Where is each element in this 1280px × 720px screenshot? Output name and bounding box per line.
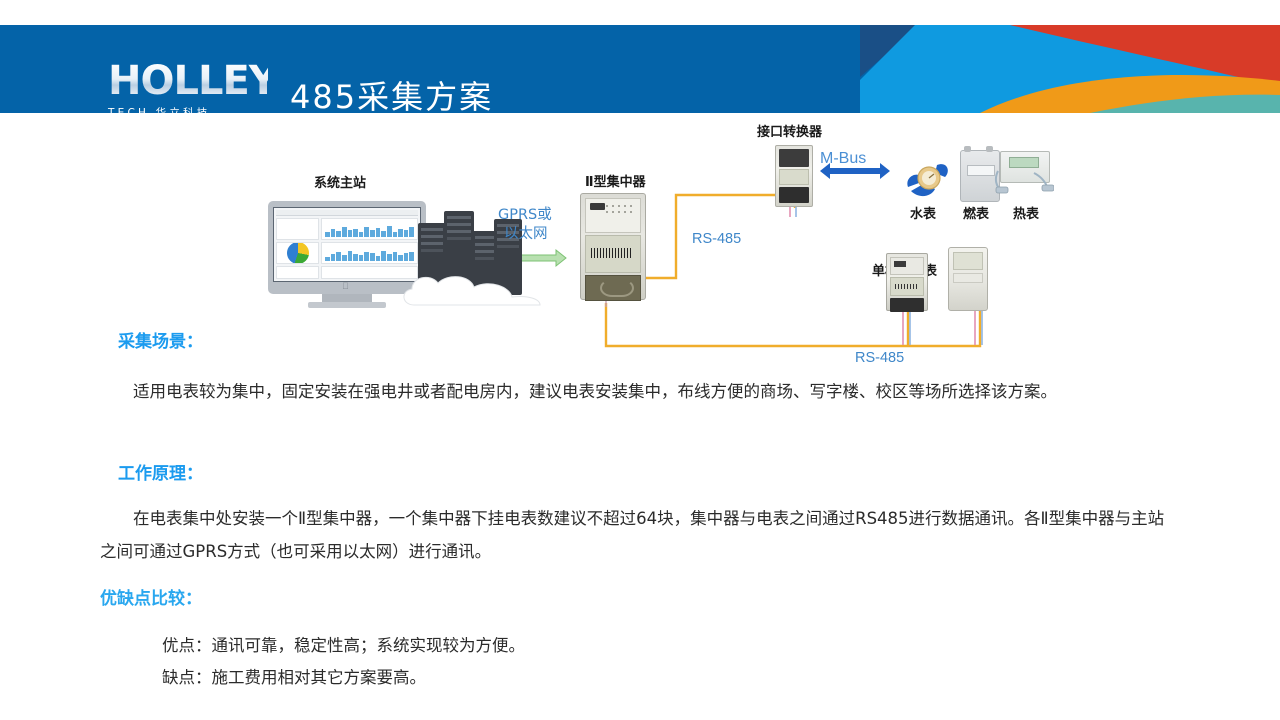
- header-swoosh-decoration: [860, 25, 1280, 113]
- concentrator-device-icon: [580, 193, 646, 300]
- page-title: 485采集方案: [290, 72, 493, 113]
- interface-converter-device-icon: [775, 145, 813, 207]
- logo-wordmark: HOLLEY: [108, 61, 268, 101]
- label-mbus: M-Bus: [820, 150, 866, 168]
- label-interface-converter: 接口转换器: [757, 121, 822, 140]
- section-body-scenario: 适用电表较为集中，固定安装在强电井或者配电房内，建议电表安装集中，布线方便的商场…: [100, 375, 1180, 408]
- section-heading-principle: 工作原理：: [118, 459, 203, 484]
- label-master-station: 系统主站: [314, 172, 366, 191]
- holley-logo: HOLLEY TECH 华立科技: [108, 61, 268, 113]
- single-phase-meter-icon-b: [948, 247, 988, 311]
- heat-meter-cable-icon: [994, 169, 1054, 195]
- section-body-principle: 在电表集中处安装一个Ⅱ型集中器，一个集中器下挂电表数建议不超过64块，集中器与电…: [100, 502, 1180, 568]
- label-water-meter: 水表: [910, 203, 936, 222]
- bullet-advantage: 优点：通讯可靠，稳定性高；系统实现较为方便。: [162, 632, 525, 656]
- logo-subtext: TECH 华立科技: [108, 105, 268, 113]
- label-gprs-line2: 以太网: [504, 225, 548, 244]
- apple-logo-icon: : [342, 282, 350, 291]
- section-heading-proscons: 优缺点比较：: [100, 584, 202, 609]
- label-rs485-bottom: RS-485: [855, 350, 904, 366]
- label-heat-meter: 热表: [1013, 203, 1039, 222]
- cloud-icon: [400, 271, 550, 307]
- bullet-disadvantage: 缺点：施工费用相对其它方案要高。: [162, 664, 426, 688]
- single-phase-meter-icon-a: [886, 253, 928, 311]
- header-banner: HOLLEY TECH 华立科技 485采集方案: [0, 25, 1280, 113]
- label-rs485-top: RS-485: [692, 231, 741, 247]
- section-heading-scenario: 采集场景：: [118, 327, 203, 352]
- label-gas-meter: 燃表: [963, 203, 989, 222]
- label-gprs-line1: GPRS或: [498, 206, 552, 225]
- architecture-diagram: 系统主站: [0, 113, 1280, 363]
- water-meter-icon: [905, 155, 951, 199]
- label-concentrator: Ⅱ型集中器: [585, 171, 646, 190]
